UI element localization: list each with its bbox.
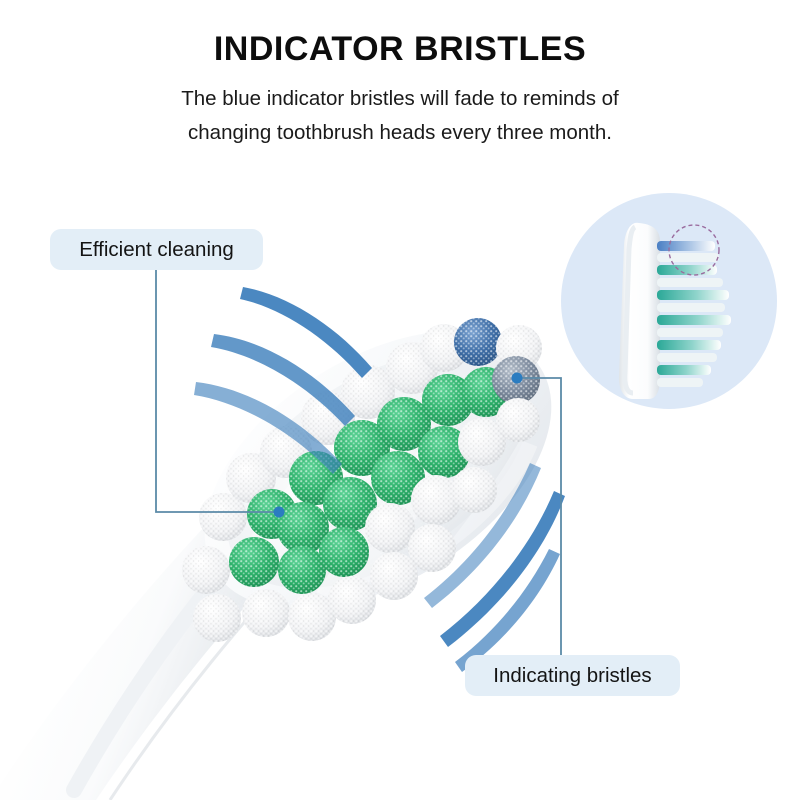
- bristle-tuft-green: [289, 451, 343, 505]
- page-subtitle: The blue indicator bristles will fade to…: [100, 82, 700, 150]
- motion-arcs-upper-left: [194, 287, 372, 474]
- bristle-tuft-green: [377, 397, 431, 451]
- bristle-detail-inset: [561, 193, 777, 409]
- motion-arc: [440, 491, 565, 647]
- inset-bristle-row: [657, 278, 723, 287]
- bristle-tuft-white: [411, 475, 461, 525]
- motion-arc: [240, 287, 372, 378]
- bristle-tuft-white: [451, 467, 497, 513]
- motion-arc: [211, 334, 355, 426]
- bristle-tuft-white: [288, 593, 336, 641]
- page-title: INDICATOR BRISTLES: [0, 30, 800, 69]
- bristle-tuft-white: [226, 453, 276, 503]
- bristle-tuft-green: [278, 546, 326, 594]
- bristle-tuft-green: [461, 367, 511, 417]
- bristle-wave-bands: [236, 392, 552, 620]
- bristle-tuft-white: [199, 493, 247, 541]
- inset-illustration: [561, 193, 777, 409]
- bristle-tuft-white: [193, 594, 241, 642]
- bristle-tuft-green: [229, 537, 279, 587]
- bristle-tuft-white: [365, 503, 415, 553]
- bristle-tuft-white: [328, 576, 376, 624]
- bristle-tuft-green: [334, 420, 390, 476]
- bristle-tuft-green: [319, 527, 369, 577]
- callout-label-efficient-cleaning[interactable]: Efficient cleaning: [50, 229, 263, 270]
- inset-bristle-row: [657, 378, 703, 387]
- bristle-tuft-green: [418, 426, 470, 478]
- bristle-tuft-white: [260, 426, 312, 478]
- bristle-tuft-white: [420, 324, 468, 372]
- bristle-tuft-white: [408, 524, 456, 572]
- inset-bristle-row: [657, 290, 729, 300]
- bristle-tuft-green: [277, 502, 329, 554]
- bristle-tuft-white: [301, 391, 355, 445]
- inset-bristle-row: [657, 340, 721, 350]
- inset-bristle-rows: [657, 241, 731, 387]
- bristle-tuft-white: [496, 325, 542, 371]
- bristle-tuft-green: [323, 477, 377, 531]
- infographic-canvas: INDICATOR BRISTLES The blue indicator br…: [0, 0, 800, 800]
- motion-arc: [194, 382, 342, 474]
- inset-bristle-row: [657, 253, 719, 262]
- callout-anchor-dot-indicating-bristles: [512, 373, 523, 384]
- bristle-tuft-white: [182, 546, 230, 594]
- inset-bristle-row: [657, 328, 723, 337]
- bristle-tufts: [182, 318, 542, 642]
- callout-anchor-dot-efficient-cleaning: [274, 507, 285, 518]
- bristle-tuft-green: [247, 489, 297, 539]
- subtitle-line-2: changing toothbrush heads every three mo…: [100, 116, 700, 150]
- inset-bristle-row: [657, 365, 711, 375]
- motion-arc: [455, 549, 560, 672]
- callout-label-indicating-bristles[interactable]: Indicating bristles: [465, 655, 680, 696]
- callout-line-efficient-cleaning: [156, 270, 278, 512]
- bristle-tuft-green: [371, 451, 425, 505]
- brush-neck: [0, 494, 292, 800]
- bristle-tuft-white: [341, 365, 395, 419]
- motion-arcs-lower-right: [424, 463, 565, 672]
- bristle-tuft-white: [458, 418, 506, 466]
- brush-head-pad: [187, 303, 569, 637]
- bristle-tuft-white: [242, 589, 290, 637]
- bristle-tuft-white: [386, 342, 438, 394]
- brush-neck-edge: [110, 566, 296, 800]
- inset-indicator-bristle-row: [657, 241, 715, 251]
- motion-arc: [424, 463, 541, 608]
- bristle-tuft-indicator-faded: [492, 356, 540, 404]
- bristle-tuft-white: [370, 552, 418, 600]
- bristle-tuft-green: [422, 374, 474, 426]
- inset-bristle-row: [657, 303, 725, 312]
- callout-line-indicating-bristles: [518, 378, 561, 655]
- inset-bristle-row: [657, 353, 717, 362]
- inset-bristle-row: [657, 315, 731, 325]
- subtitle-line-1: The blue indicator bristles will fade to…: [100, 82, 700, 116]
- brush-head-body: [156, 273, 600, 666]
- bristle-tuft-indicator-blue: [454, 318, 502, 366]
- bristle-tuft-white: [496, 398, 540, 442]
- brush-neck-highlight: [74, 532, 258, 790]
